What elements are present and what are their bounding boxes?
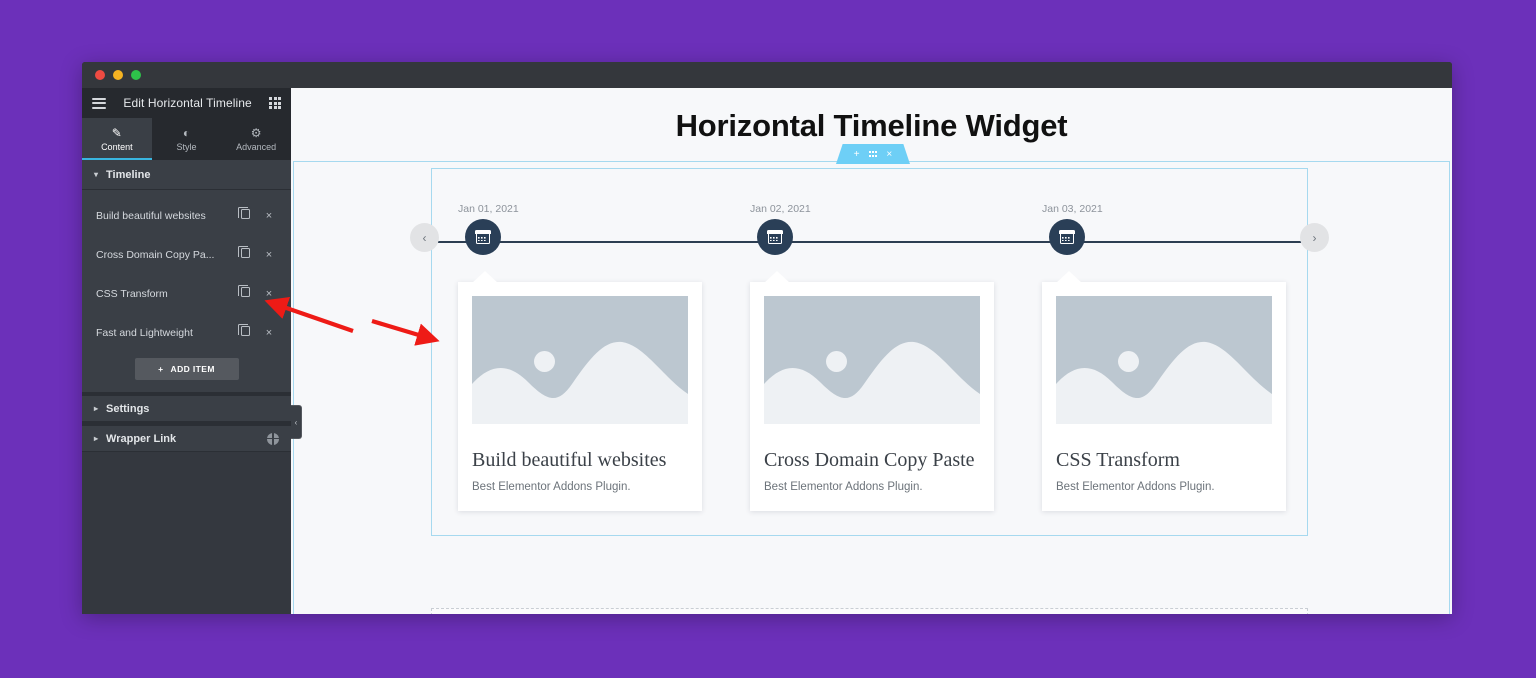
card-description: Best Elementor Addons Plugin. bbox=[764, 481, 980, 493]
remove-item-button[interactable]: × bbox=[257, 249, 281, 261]
timeline-next-button[interactable]: › bbox=[1300, 223, 1329, 252]
add-item-label: ADD ITEM bbox=[171, 364, 215, 374]
timeline-repeater: Build beautiful websites × Cross Domain … bbox=[82, 190, 291, 392]
list-item[interactable]: Build beautiful websites × bbox=[82, 196, 291, 235]
panel-collapse-handle[interactable]: ‹ bbox=[291, 405, 302, 439]
placeholder-image bbox=[472, 296, 688, 424]
close-window-button[interactable] bbox=[95, 70, 105, 80]
card-title: CSS Transform bbox=[1056, 448, 1272, 472]
section-toolbar: + × bbox=[836, 144, 910, 164]
add-section-icon[interactable]: + bbox=[854, 149, 860, 160]
tab-content[interactable]: ✎ Content bbox=[82, 118, 152, 160]
duplicate-item-button[interactable] bbox=[233, 326, 257, 339]
placeholder-hills bbox=[764, 296, 980, 424]
card-description: Best Elementor Addons Plugin. bbox=[472, 481, 688, 493]
card-title: Build beautiful websites bbox=[472, 448, 688, 472]
section-wrapper-link-label: Wrapper Link bbox=[106, 433, 176, 445]
duplicate-item-button[interactable] bbox=[233, 248, 257, 261]
timeline-prev-button[interactable]: ‹ bbox=[410, 223, 439, 252]
panel-title: Edit Horizontal Timeline bbox=[106, 96, 269, 110]
placeholder-hills bbox=[1056, 296, 1272, 424]
gear-icon: ⚙ bbox=[251, 127, 262, 139]
timeline-date: Jan 03, 2021 bbox=[1042, 203, 1103, 215]
remove-item-button[interactable]: × bbox=[257, 288, 281, 300]
duplicate-item-button[interactable] bbox=[233, 209, 257, 222]
calendar-icon bbox=[1060, 231, 1074, 244]
tab-advanced[interactable]: ⚙ Advanced bbox=[221, 118, 291, 160]
maximize-window-button[interactable] bbox=[131, 70, 141, 80]
calendar-icon bbox=[476, 231, 490, 244]
timeline-card[interactable]: CSS Transform Best Elementor Addons Plug… bbox=[1042, 282, 1286, 511]
repeater-item-label: Cross Domain Copy Pa... bbox=[96, 249, 233, 261]
screenshot-stage: Edit Horizontal Timeline ✎ Content ◐ Sty… bbox=[0, 0, 1536, 678]
tab-style[interactable]: ◐ Style bbox=[152, 118, 222, 160]
section-timeline-label: Timeline bbox=[106, 169, 150, 181]
hamburger-icon[interactable] bbox=[92, 98, 106, 109]
card-title: Cross Domain Copy Paste bbox=[764, 448, 980, 472]
list-item[interactable]: CSS Transform × bbox=[82, 274, 291, 313]
tab-content-label: Content bbox=[101, 142, 133, 152]
sun-icon bbox=[1118, 351, 1139, 372]
list-item[interactable]: Cross Domain Copy Pa... × bbox=[82, 235, 291, 274]
section-settings[interactable]: ▸ Settings bbox=[82, 392, 291, 422]
contrast-icon: ◐ bbox=[183, 127, 190, 139]
plus-icon: + bbox=[158, 364, 163, 374]
empty-section-dropzone[interactable] bbox=[431, 608, 1308, 614]
timeline-axis-line bbox=[432, 241, 1307, 243]
sun-icon bbox=[534, 351, 555, 372]
tab-advanced-label: Advanced bbox=[236, 142, 276, 152]
section-timeline[interactable]: ▾ Timeline bbox=[82, 160, 291, 190]
timeline-card[interactable]: Cross Domain Copy Paste Best Elementor A… bbox=[750, 282, 994, 511]
section-wrapper-link[interactable]: ▸ Wrapper Link bbox=[82, 422, 291, 452]
card-description: Best Elementor Addons Plugin. bbox=[1056, 481, 1272, 493]
page-title: Horizontal Timeline Widget bbox=[291, 88, 1452, 144]
timeline-node[interactable] bbox=[757, 219, 793, 255]
editor-body: Edit Horizontal Timeline ✎ Content ◐ Sty… bbox=[82, 88, 1452, 614]
chevron-down-icon: ▾ bbox=[94, 170, 98, 179]
list-item[interactable]: Fast and Lightweight × bbox=[82, 313, 291, 352]
drag-handle-icon[interactable] bbox=[869, 151, 878, 156]
add-item-button[interactable]: + ADD ITEM bbox=[135, 358, 239, 380]
timeline-node[interactable] bbox=[465, 219, 501, 255]
globe-icon[interactable] bbox=[267, 433, 279, 445]
chevron-right-icon: ▸ bbox=[94, 404, 98, 413]
elementor-panel: Edit Horizontal Timeline ✎ Content ◐ Sty… bbox=[82, 88, 291, 614]
panel-tabs: ✎ Content ◐ Style ⚙ Advanced bbox=[82, 118, 291, 160]
chevron-right-icon: ▸ bbox=[94, 434, 98, 443]
placeholder-image bbox=[1056, 296, 1272, 424]
repeater-item-label: Build beautiful websites bbox=[96, 210, 233, 222]
grid-icon[interactable] bbox=[269, 97, 281, 109]
repeater-item-label: CSS Transform bbox=[96, 288, 233, 300]
calendar-icon bbox=[768, 231, 782, 244]
remove-item-button[interactable]: × bbox=[257, 327, 281, 339]
tab-style-label: Style bbox=[177, 142, 197, 152]
duplicate-item-button[interactable] bbox=[233, 287, 257, 300]
horizontal-timeline-widget[interactable]: Jan 01, 2021 Jan 02, 2021 Jan 03, 2021 ‹… bbox=[431, 168, 1308, 536]
section-settings-label: Settings bbox=[106, 403, 149, 415]
timeline-date: Jan 02, 2021 bbox=[750, 203, 811, 215]
timeline-node[interactable] bbox=[1049, 219, 1085, 255]
sun-icon bbox=[826, 351, 847, 372]
panel-header: Edit Horizontal Timeline bbox=[82, 88, 291, 118]
placeholder-image bbox=[764, 296, 980, 424]
close-icon[interactable]: × bbox=[886, 149, 892, 160]
browser-window: Edit Horizontal Timeline ✎ Content ◐ Sty… bbox=[82, 62, 1452, 614]
editor-canvas: Horizontal Timeline Widget + × Jan 01, 2… bbox=[291, 88, 1452, 614]
pencil-icon: ✎ bbox=[112, 127, 122, 139]
placeholder-hills bbox=[472, 296, 688, 424]
window-titlebar bbox=[82, 62, 1452, 88]
minimize-window-button[interactable] bbox=[113, 70, 123, 80]
timeline-card[interactable]: Build beautiful websites Best Elementor … bbox=[458, 282, 702, 511]
repeater-item-label: Fast and Lightweight bbox=[96, 327, 233, 339]
remove-item-button[interactable]: × bbox=[257, 210, 281, 222]
timeline-date: Jan 01, 2021 bbox=[458, 203, 519, 215]
